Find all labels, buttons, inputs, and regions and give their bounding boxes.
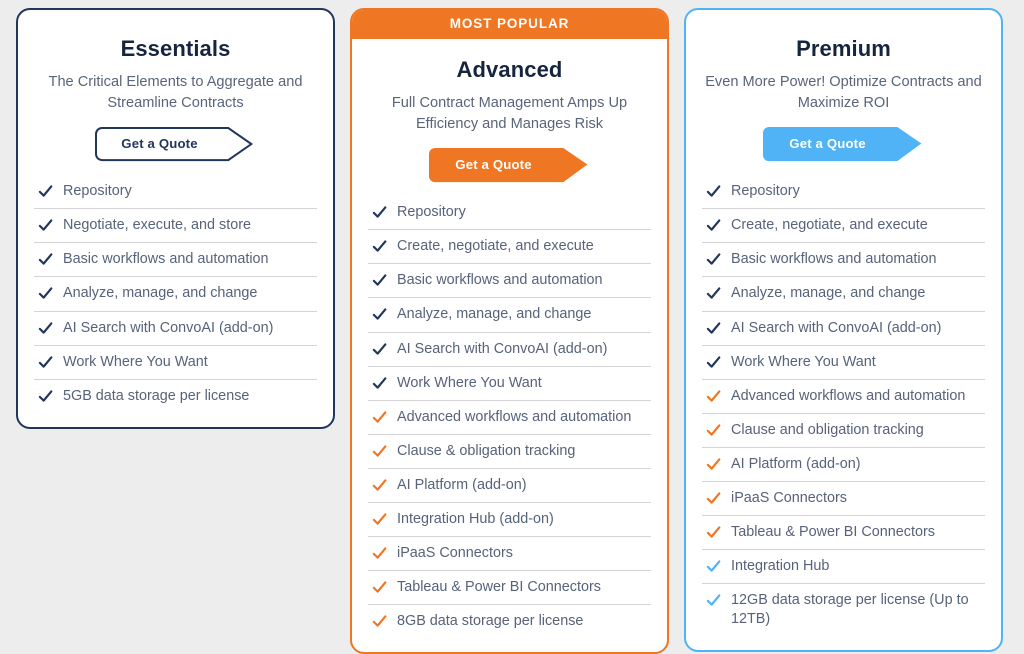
- feature-item: Repository: [702, 175, 985, 209]
- get-a-quote-button-advanced[interactable]: Get a Quote: [429, 148, 589, 180]
- check-icon: [38, 286, 53, 301]
- feature-item: Negotiate, execute, and store: [34, 209, 317, 243]
- feature-item: iPaaS Connectors: [702, 482, 985, 516]
- get-a-quote-button-premium[interactable]: Get a Quote: [763, 127, 923, 159]
- feature-label: Basic workflows and automation: [731, 250, 939, 269]
- feature-list-advanced: RepositoryCreate, negotiate, and execute…: [352, 196, 667, 637]
- check-icon: [372, 512, 387, 527]
- check-icon: [706, 559, 721, 574]
- check-icon: [38, 218, 53, 233]
- feature-item: Analyze, manage, and change: [702, 277, 985, 311]
- feature-item: Clause & obligation tracking: [368, 435, 651, 469]
- feature-label: Create, negotiate, and execute: [397, 237, 596, 256]
- feature-item: Basic workflows and automation: [702, 243, 985, 277]
- pricing-card-advanced: MOST POPULARAdvancedFull Contract Manage…: [350, 8, 669, 654]
- feature-item: AI Search with ConvoAI (add-on): [34, 312, 317, 346]
- feature-label: Repository: [397, 203, 468, 222]
- card-header-essentials: EssentialsThe Critical Elements to Aggre…: [18, 10, 333, 113]
- feature-item: Tableau & Power BI Connectors: [368, 571, 651, 605]
- feature-label: iPaaS Connectors: [397, 544, 515, 563]
- check-icon: [706, 491, 721, 506]
- feature-label: Clause & obligation tracking: [397, 442, 577, 461]
- check-icon: [706, 218, 721, 233]
- feature-label: Tableau & Power BI Connectors: [731, 523, 937, 542]
- cta-row: Get a Quote: [686, 127, 1001, 159]
- feature-item: Create, negotiate, and execute: [702, 209, 985, 243]
- feature-item: Repository: [34, 175, 317, 209]
- check-icon: [372, 205, 387, 220]
- feature-item: Basic workflows and automation: [368, 264, 651, 298]
- check-icon: [706, 321, 721, 336]
- feature-label: AI Search with ConvoAI (add-on): [731, 319, 943, 338]
- feature-item: Create, negotiate, and execute: [368, 230, 651, 264]
- check-icon: [38, 389, 53, 404]
- feature-label: Work Where You Want: [397, 374, 544, 393]
- feature-label: Clause and obligation tracking: [731, 421, 926, 440]
- get-a-quote-label: Get a Quote: [455, 157, 531, 172]
- check-icon: [38, 184, 53, 199]
- feature-item: Advanced workflows and automation: [368, 401, 651, 435]
- pricing-card-essentials: EssentialsThe Critical Elements to Aggre…: [16, 8, 335, 429]
- feature-label: AI Platform (add-on): [397, 476, 529, 495]
- feature-list-premium: RepositoryCreate, negotiate, and execute…: [686, 175, 1001, 635]
- feature-item: Work Where You Want: [368, 367, 651, 401]
- feature-label: 12GB data storage per license (Up to 12T…: [731, 591, 983, 629]
- feature-item: Integration Hub (add-on): [368, 503, 651, 537]
- feature-label: AI Platform (add-on): [731, 455, 863, 474]
- feature-item: Analyze, manage, and change: [34, 277, 317, 311]
- feature-item: 8GB data storage per license: [368, 605, 651, 638]
- feature-item: Advanced workflows and automation: [702, 380, 985, 414]
- check-icon: [706, 184, 721, 199]
- feature-item: Basic workflows and automation: [34, 243, 317, 277]
- feature-item: AI Search with ConvoAI (add-on): [368, 333, 651, 367]
- pricing-card-premium: PremiumEven More Power! Optimize Contrac…: [684, 8, 1003, 652]
- feature-label: Analyze, manage, and change: [397, 305, 593, 324]
- feature-label: Tableau & Power BI Connectors: [397, 578, 603, 597]
- feature-label: Basic workflows and automation: [397, 271, 605, 290]
- check-icon: [372, 580, 387, 595]
- plan-subtitle: Even More Power! Optimize Contracts and …: [704, 72, 983, 113]
- plan-subtitle: Full Contract Management Amps Up Efficie…: [370, 93, 649, 134]
- card-header-premium: PremiumEven More Power! Optimize Contrac…: [686, 10, 1001, 113]
- feature-item: Clause and obligation tracking: [702, 414, 985, 448]
- check-icon: [706, 355, 721, 370]
- get-a-quote-label: Get a Quote: [789, 136, 865, 151]
- feature-label: AI Search with ConvoAI (add-on): [397, 340, 609, 359]
- feature-label: Negotiate, execute, and store: [63, 216, 253, 235]
- check-icon: [706, 525, 721, 540]
- feature-label: Create, negotiate, and execute: [731, 216, 930, 235]
- check-icon: [372, 239, 387, 254]
- feature-label: Repository: [63, 182, 134, 201]
- feature-item: iPaaS Connectors: [368, 537, 651, 571]
- feature-item: 5GB data storage per license: [34, 380, 317, 413]
- check-icon: [372, 546, 387, 561]
- feature-label: Integration Hub: [731, 557, 831, 576]
- most-popular-banner: MOST POPULAR: [351, 9, 668, 39]
- plan-title: Advanced: [370, 57, 649, 83]
- check-icon: [372, 342, 387, 357]
- check-icon: [372, 273, 387, 288]
- card-header-advanced: AdvancedFull Contract Management Amps Up…: [352, 39, 667, 134]
- feature-label: Integration Hub (add-on): [397, 510, 556, 529]
- cta-row: Get a Quote: [18, 127, 333, 159]
- check-icon: [706, 423, 721, 438]
- feature-item: Integration Hub: [702, 550, 985, 584]
- check-icon: [372, 376, 387, 391]
- feature-label: Repository: [731, 182, 802, 201]
- feature-item: Work Where You Want: [34, 346, 317, 380]
- feature-item: Repository: [368, 196, 651, 230]
- check-icon: [38, 252, 53, 267]
- feature-label: Advanced workflows and automation: [731, 387, 967, 406]
- feature-label: AI Search with ConvoAI (add-on): [63, 319, 275, 338]
- check-icon: [372, 444, 387, 459]
- feature-item: Work Where You Want: [702, 346, 985, 380]
- feature-label: iPaaS Connectors: [731, 489, 849, 508]
- feature-label: Analyze, manage, and change: [731, 284, 927, 303]
- check-icon: [706, 457, 721, 472]
- feature-label: Advanced workflows and automation: [397, 408, 633, 427]
- check-icon: [706, 389, 721, 404]
- plan-title: Premium: [704, 36, 983, 62]
- feature-label: Analyze, manage, and change: [63, 284, 259, 303]
- feature-label: Work Where You Want: [63, 353, 210, 372]
- check-icon: [372, 307, 387, 322]
- feature-label: 5GB data storage per license: [63, 387, 251, 406]
- feature-item: AI Platform (add-on): [702, 448, 985, 482]
- feature-item: 12GB data storage per license (Up to 12T…: [702, 584, 985, 636]
- feature-label: Basic workflows and automation: [63, 250, 271, 269]
- check-icon: [706, 252, 721, 267]
- pricing-plans-container: EssentialsThe Critical Elements to Aggre…: [0, 0, 1024, 654]
- feature-label: Work Where You Want: [731, 353, 878, 372]
- feature-item: Analyze, manage, and change: [368, 298, 651, 332]
- check-icon: [38, 355, 53, 370]
- feature-list-essentials: RepositoryNegotiate, execute, and storeB…: [18, 175, 333, 412]
- check-icon: [372, 614, 387, 629]
- check-icon: [372, 478, 387, 493]
- get-a-quote-label: Get a Quote: [121, 136, 197, 151]
- check-icon: [706, 286, 721, 301]
- check-icon: [38, 321, 53, 336]
- feature-item: Tableau & Power BI Connectors: [702, 516, 985, 550]
- cta-row: Get a Quote: [352, 148, 667, 180]
- feature-item: AI Platform (add-on): [368, 469, 651, 503]
- check-icon: [706, 593, 721, 608]
- check-icon: [372, 410, 387, 425]
- plan-title: Essentials: [36, 36, 315, 62]
- plan-subtitle: The Critical Elements to Aggregate and S…: [36, 72, 315, 113]
- get-a-quote-button-essentials[interactable]: Get a Quote: [95, 127, 255, 159]
- feature-label: 8GB data storage per license: [397, 612, 585, 631]
- feature-item: AI Search with ConvoAI (add-on): [702, 312, 985, 346]
